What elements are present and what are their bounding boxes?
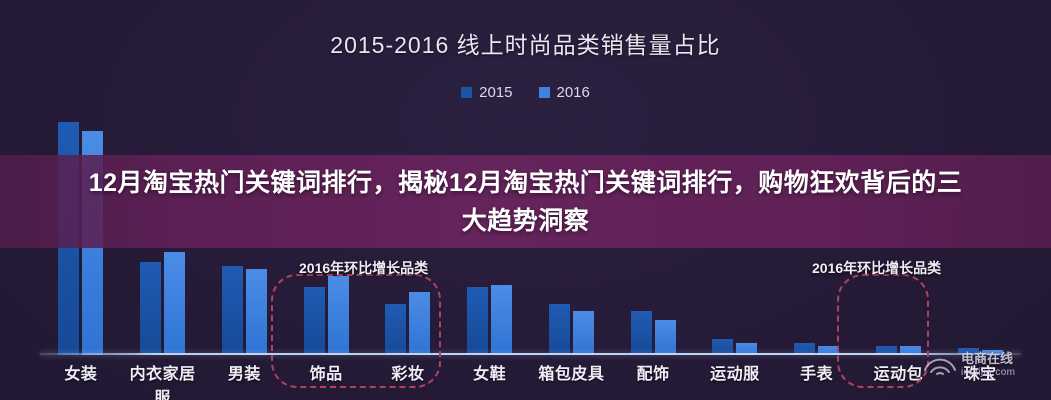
- legend-label-2016: 2016: [557, 84, 590, 101]
- bar-2016: [409, 292, 430, 355]
- bar-2015: [140, 262, 161, 355]
- page-title: 2015-2016 线上时尚品类销售量占比: [0, 26, 1051, 60]
- legend-item-2016[interactable]: 2016: [539, 84, 590, 101]
- annotation-growth-left: 2016年环比增长品类: [299, 258, 428, 278]
- x-label-0: 女装: [40, 360, 122, 400]
- bar-2015: [222, 266, 243, 355]
- bar-2016: [164, 252, 185, 355]
- headline-text: 12月淘宝热门关键词排行，揭秘12月淘宝热门关键词排行，购物狂欢背后的三大趋势洞…: [86, 164, 966, 240]
- watermark-name: 电商在线: [961, 352, 1013, 366]
- headline-overlay-band: 12月淘宝热门关键词排行，揭秘12月淘宝热门关键词排行，购物狂欢背后的三大趋势洞…: [0, 155, 1051, 248]
- x-label-4: 彩妆: [367, 360, 449, 400]
- legend-label-2015: 2015: [479, 84, 512, 101]
- bar-2016: [655, 320, 676, 355]
- watermark-url: imaijia.com: [961, 367, 1015, 378]
- x-label-1: 内衣家居服: [122, 360, 204, 400]
- chart-screenshot: 2015-2016 线上时尚品类销售量占比 2015 2016 女装内衣家居服男…: [0, 0, 1051, 400]
- x-label-3: 饰品: [285, 360, 367, 400]
- bar-2015: [385, 304, 406, 355]
- bar-2015: [549, 304, 570, 355]
- x-label-6: 箱包皮具: [531, 360, 613, 400]
- x-label-7: 配饰: [612, 360, 694, 400]
- x-label-2: 男装: [204, 360, 286, 400]
- bar-2016: [573, 311, 594, 355]
- bar-2015: [467, 287, 488, 355]
- x-label-8: 运动服: [694, 360, 776, 400]
- bar-2015: [631, 311, 652, 355]
- annotation-growth-right: 2016年环比增长品类: [812, 258, 941, 278]
- chart-legend: 2015 2016: [0, 84, 1051, 101]
- legend-swatch-2015: [461, 87, 472, 98]
- legend-item-2015[interactable]: 2015: [461, 84, 512, 101]
- bar-2016: [246, 269, 267, 355]
- bar-2015: [304, 287, 325, 355]
- signal-waves-icon: [919, 348, 961, 382]
- x-axis-labels: 女装内衣家居服男装饰品彩妆女鞋箱包皮具配饰运动服手表运动包珠宝: [40, 360, 1021, 400]
- bar-2016: [491, 285, 512, 355]
- bar-2016: [328, 276, 349, 355]
- x-axis-baseline: [40, 353, 1021, 355]
- x-label-9: 手表: [776, 360, 858, 400]
- x-label-5: 女鞋: [449, 360, 531, 400]
- legend-swatch-2016: [539, 87, 550, 98]
- watermark: 电商在线 imaijia.com: [917, 348, 1039, 392]
